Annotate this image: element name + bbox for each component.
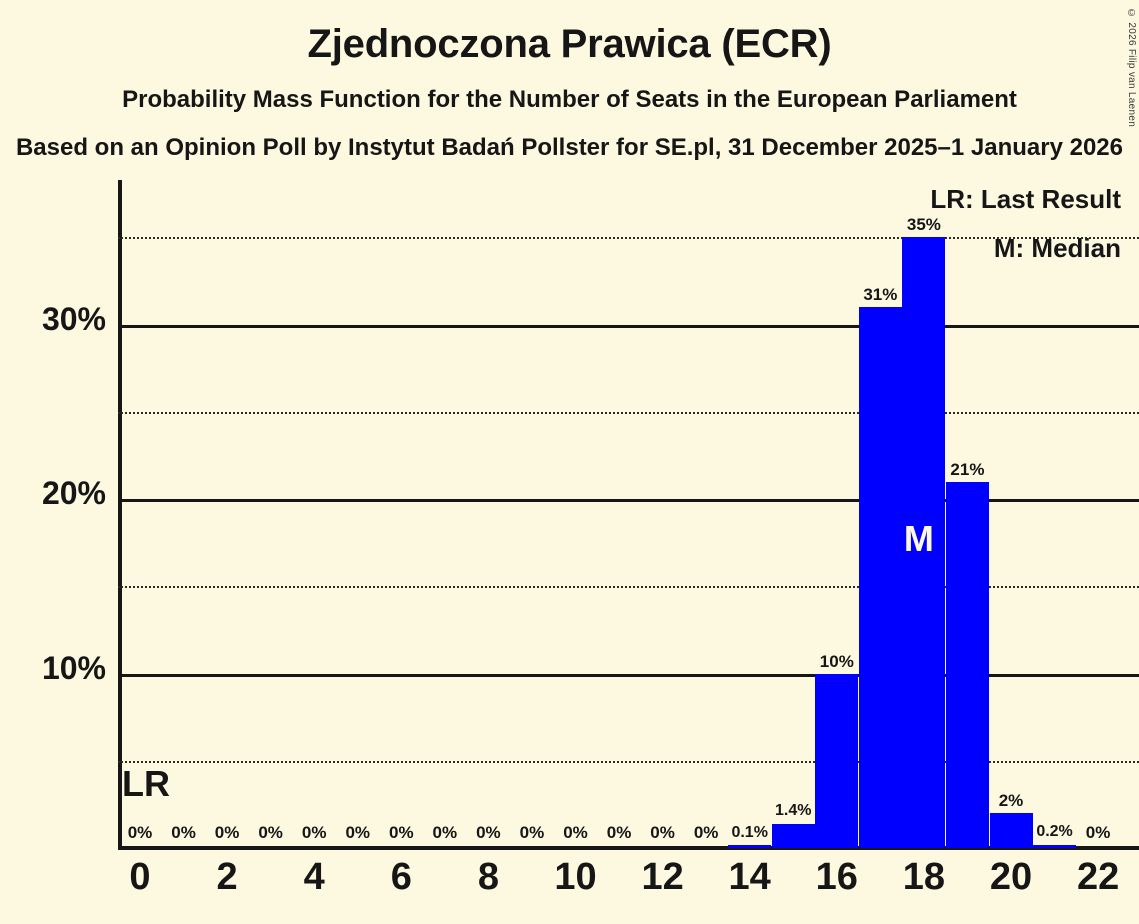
bar-label-seat-19: 21% (922, 460, 1012, 480)
last-result-marker: LR (122, 763, 170, 805)
x-axis-label-18: 18 (874, 856, 974, 899)
bar-seat-17[interactable] (859, 307, 902, 848)
x-axis-label-12: 12 (613, 856, 713, 899)
x-axis-label-8: 8 (438, 856, 538, 899)
y-axis-label-20%: 20% (0, 475, 106, 512)
bar-label-seat-15: 1.4% (748, 802, 838, 820)
x-axis-label-14: 14 (700, 856, 800, 899)
x-axis-label-2: 2 (177, 856, 277, 899)
bar-seat-16[interactable] (815, 674, 858, 849)
chart-subtitle: Probability Mass Function for the Number… (0, 86, 1139, 114)
bar-label-seat-14: 0.1% (705, 824, 795, 842)
bar-label-seat-17: 31% (835, 285, 925, 305)
bar-label-seat-18: 35% (879, 215, 969, 235)
x-axis-label-4: 4 (264, 856, 364, 899)
x-axis-label-6: 6 (351, 856, 451, 899)
bar-seat-14[interactable] (728, 845, 771, 848)
bar-label-seat-16: 10% (792, 652, 882, 672)
bar-seat-21[interactable] (1033, 845, 1076, 848)
x-axis-label-16: 16 (787, 856, 887, 899)
chart-source-line: Based on an Opinion Poll by Instytut Bad… (0, 134, 1139, 162)
bar-label-seat-20: 2% (966, 791, 1056, 811)
page-title: Zjednoczona Prawica (ECR) (0, 22, 1139, 67)
gridline-minor-25 (118, 412, 1139, 414)
y-axis-label-10%: 10% (0, 650, 106, 687)
x-axis-label-22: 22 (1048, 856, 1139, 899)
bar-label-seat-22: 0% (1053, 823, 1139, 843)
gridline-minor-35 (118, 237, 1139, 239)
y-axis-label-30%: 30% (0, 301, 106, 338)
plot-area: 10%20%30% 0%0%0%0%0%0%0%0%0%0%0%0%0%0%0.… (118, 180, 1139, 850)
gridline-major-30 (118, 325, 1139, 328)
chart-page: Zjednoczona Prawica (ECR) Probability Ma… (0, 0, 1139, 924)
x-axis-label-0: 0 (90, 856, 190, 899)
x-axis-label-20: 20 (961, 856, 1061, 899)
x-axis-label-10: 10 (526, 856, 626, 899)
copyright-notice: © 2026 Filip van Laenen (1126, 8, 1137, 127)
y-axis (118, 180, 122, 850)
median-marker: M (904, 518, 934, 560)
